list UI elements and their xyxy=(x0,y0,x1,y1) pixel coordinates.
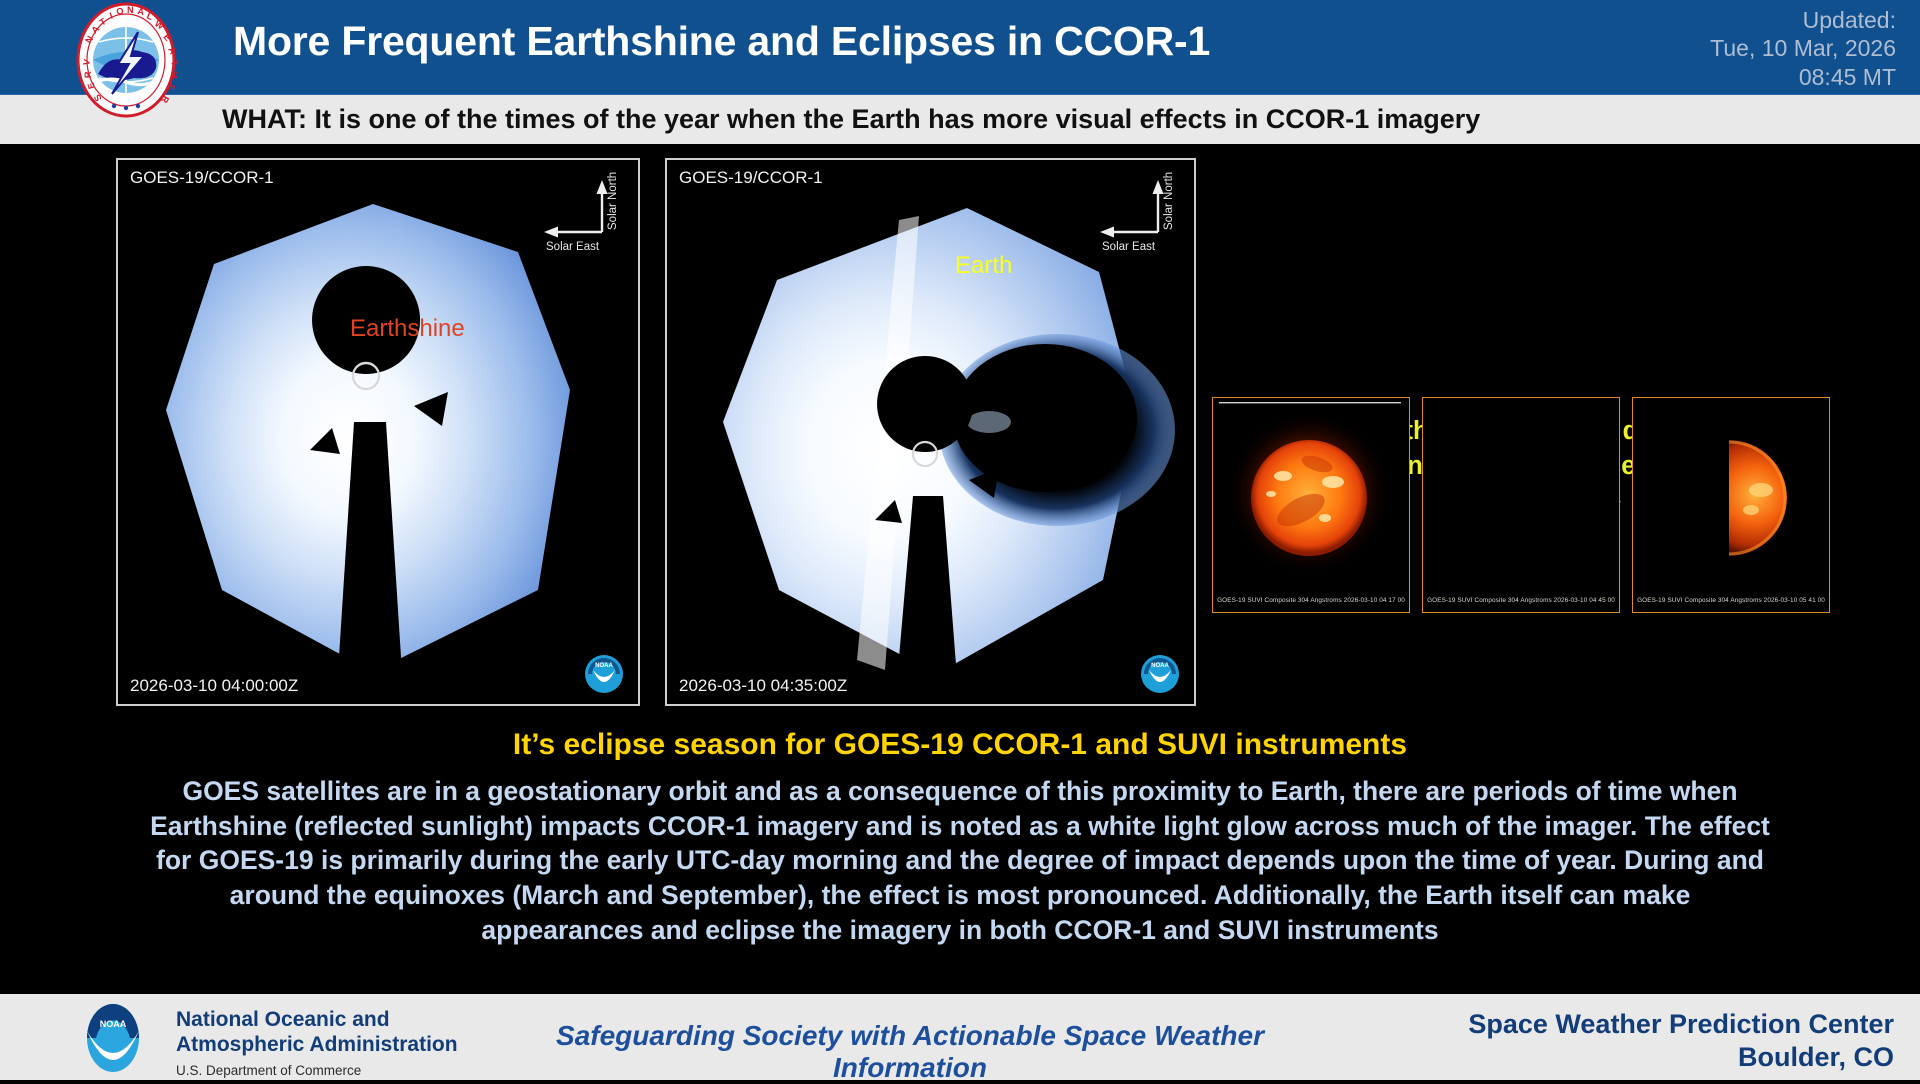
noaa-badge-icon-2: NOAA xyxy=(1140,654,1180,694)
page-header: More Frequent Earthshine and Eclipses in… xyxy=(0,0,1920,94)
svg-text:H: H xyxy=(169,72,179,79)
compass-east-label-2: Solar East xyxy=(1102,241,1156,253)
content-stage: GOES-19/CCOR-1 2026-03-10 04:00:00Z Eart… xyxy=(0,144,1920,984)
suvi-thumbnail-2[interactable]: GOES-19 SUVI Composite 304 Angstroms 202… xyxy=(1422,397,1620,613)
solar-compass-1: Solar North Solar East xyxy=(528,170,626,260)
svg-text:NOAA: NOAA xyxy=(595,663,613,669)
updated-time: 08:45 MT xyxy=(1476,63,1896,91)
suvi-caption-3: GOES-19 SUVI Composite 304 Angstroms 202… xyxy=(1633,597,1829,604)
national-weather-service-logo: N A T I O N A L W E A T H E R S E R V xyxy=(68,2,184,118)
updated-date: Tue, 10 Mar, 2026 xyxy=(1476,34,1896,62)
page-title: More Frequent Earthshine and Eclipses in… xyxy=(233,18,1210,65)
suvi-caption-1: GOES-19 SUVI Composite 304 Angstroms 202… xyxy=(1213,597,1409,604)
suvi-thumbnail-row: GOES-19 SUVI Composite 304 Angstroms 202… xyxy=(1212,397,1832,611)
solar-compass-2: Solar North Solar East xyxy=(1084,170,1182,260)
suvi-crescent-image xyxy=(1633,398,1829,612)
suvi-thumbnail-1[interactable]: GOES-19 SUVI Composite 304 Angstroms 202… xyxy=(1212,397,1410,613)
suvi-caption-2: GOES-19 SUVI Composite 304 Angstroms 202… xyxy=(1423,597,1619,604)
what-bar: WHAT: It is one of the times of the year… xyxy=(0,94,1920,145)
updated-block: Updated: Tue, 10 Mar, 2026 08:45 MT xyxy=(1476,6,1896,91)
eclipse-headline: It’s eclipse season for GOES-19 CCOR-1 a… xyxy=(0,728,1920,762)
suvi-eclipsed-image xyxy=(1423,398,1619,612)
swpc-line-2: Boulder, CO xyxy=(1374,1041,1894,1074)
updated-label: Updated: xyxy=(1476,6,1896,34)
ccor-image-panel-2[interactable]: GOES-19/CCOR-1 2026-03-10 04:35:00Z Eart… xyxy=(665,158,1196,706)
earthshine-annotation: Earthshine xyxy=(350,315,465,343)
compass-east-label-1: Solar East xyxy=(546,241,600,253)
explanatory-paragraph: GOES satellites are in a geostationary o… xyxy=(150,774,1770,948)
agency-line-2: Atmospheric Administration xyxy=(176,1033,458,1058)
noaa-logo: NOAA xyxy=(78,1003,148,1073)
page-footer: NOAA National Oceanic and Atmospheric Ad… xyxy=(0,994,1920,1080)
ccor-image-panel-1[interactable]: GOES-19/CCOR-1 2026-03-10 04:00:00Z Eart… xyxy=(116,158,640,706)
earth-annotation: Earth xyxy=(955,252,1012,280)
what-bar-text: WHAT: It is one of the times of the year… xyxy=(222,104,1480,135)
compass-north-label-1: Solar North xyxy=(607,172,619,230)
noaa-agency-name: National Oceanic and Atmospheric Adminis… xyxy=(176,1008,458,1078)
svg-text:NOAA: NOAA xyxy=(1151,663,1169,669)
svg-text:N: N xyxy=(127,5,134,15)
svg-text:R: R xyxy=(83,71,93,78)
agency-line-3: U.S. Department of Commerce xyxy=(176,1063,458,1078)
swpc-line-1: Space Weather Prediction Center xyxy=(1374,1008,1894,1041)
ccor-camera-label-2: GOES-19/CCOR-1 xyxy=(679,168,823,188)
compass-north-label-2: Solar North xyxy=(1163,172,1175,230)
svg-text:NOAA: NOAA xyxy=(100,1019,127,1029)
ccor-timestamp-1: 2026-03-10 04:00:00Z xyxy=(130,676,298,696)
noaa-badge-icon-1: NOAA xyxy=(584,654,624,694)
suvi-full-disc-image xyxy=(1213,398,1409,612)
swpc-attribution: Space Weather Prediction Center Boulder,… xyxy=(1374,1008,1894,1074)
agency-line-1: National Oceanic and xyxy=(176,1008,458,1033)
ccor-camera-label-1: GOES-19/CCOR-1 xyxy=(130,168,274,188)
suvi-thumbnail-3[interactable]: GOES-19 SUVI Composite 304 Angstroms 202… xyxy=(1632,397,1830,613)
footer-tagline: Safeguarding Society with Actionable Spa… xyxy=(480,1020,1340,1084)
ccor-timestamp-2: 2026-03-10 04:35:00Z xyxy=(679,676,847,696)
